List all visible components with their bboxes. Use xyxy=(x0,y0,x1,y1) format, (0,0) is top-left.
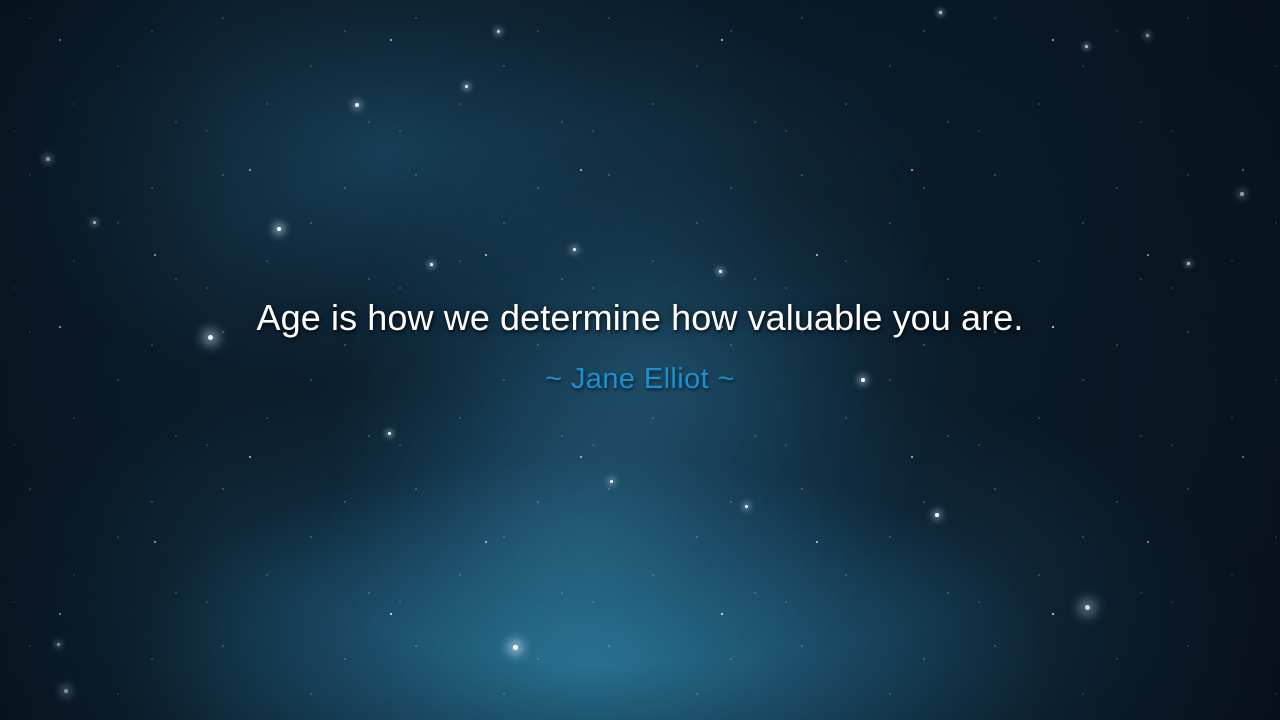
quote-attribution: ~ Jane Elliot ~ xyxy=(0,362,1280,397)
quote-text: Age is how we determine how valuable you… xyxy=(0,296,1280,340)
quote-text-block: Age is how we determine how valuable you… xyxy=(0,296,1280,397)
quote-image-canvas: Age is how we determine how valuable you… xyxy=(0,0,1280,720)
